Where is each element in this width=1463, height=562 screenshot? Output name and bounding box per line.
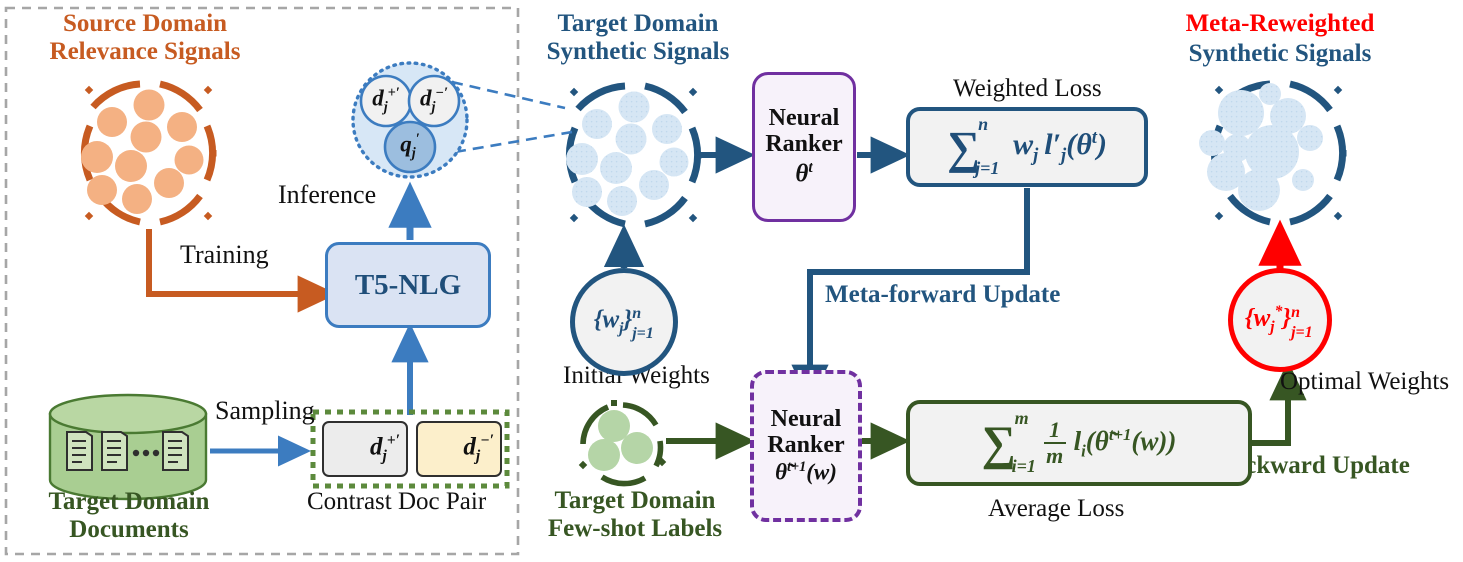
theta-tilde-arg: (w) xyxy=(806,459,837,484)
meta-reweighted-cluster xyxy=(1199,83,1347,222)
synthetic-doc-pos-label: dj+′ xyxy=(362,85,410,116)
meta-reweighted-title-line1: Meta-Reweighted xyxy=(1160,10,1400,38)
t5-nlg-label: T5-NLG xyxy=(355,269,461,302)
label-optimal-weights: Optimal Weights xyxy=(1280,368,1449,396)
doc-chip-positive: dj+′ xyxy=(322,421,408,477)
theta-symbol: θ xyxy=(795,161,808,188)
neural-ranker-bottom[interactable]: Neural Ranker θ̃t+1(w) xyxy=(750,370,862,522)
document-icon xyxy=(67,432,188,470)
weighted-loss-formula: ∑ n j=1 wj l′j(θt) xyxy=(947,121,1107,174)
weighted-loss-box: ∑ n j=1 wj l′j(θt) xyxy=(906,107,1148,187)
label-sampling: Sampling xyxy=(215,396,315,426)
theta-superscript: t xyxy=(808,159,812,176)
neural-ranker-top[interactable]: Neural Ranker θt xyxy=(752,72,856,222)
database-cylinder-icon xyxy=(50,395,206,499)
zoom-callout-lines xyxy=(452,82,572,152)
neural-ranker-bottom-line1: Neural xyxy=(771,407,842,433)
label-meta-forward-update: Meta-forward Update xyxy=(825,281,1060,309)
target-synthetic-cluster xyxy=(566,86,702,224)
neural-ranker-top-line2: Ranker xyxy=(765,132,842,158)
label-training: Training xyxy=(180,240,269,270)
label-average-loss: Average Loss xyxy=(988,495,1124,523)
t5-nlg-box[interactable]: T5-NLG xyxy=(325,242,491,328)
neural-ranker-bottom-line2: Ranker xyxy=(767,433,844,459)
doc-chip-positive-label: dj+′ xyxy=(370,432,400,465)
neural-ranker-top-line1: Neural xyxy=(769,106,840,132)
few-shot-labels-title: Target Domain Few-shot Labels xyxy=(530,487,740,543)
synthetic-query-label: qj′ xyxy=(386,131,434,162)
diagram-canvas: Source Domain Relevance Signals Target D… xyxy=(0,0,1463,562)
target-synthetic-title: Target Domain Synthetic Signals xyxy=(512,10,764,66)
source-domain-title: Source Domain Relevance Signals xyxy=(14,10,276,66)
neural-ranker-top-param: θt xyxy=(795,160,812,187)
label-weighted-loss: Weighted Loss xyxy=(953,75,1102,103)
neural-ranker-bottom-param: θ̃t+1(w) xyxy=(775,460,837,485)
theta-tilde-superscript: t+1 xyxy=(787,459,806,475)
label-inference: Inference xyxy=(278,180,376,210)
average-loss-box: ∑ m i=1 1 m li(θ̃t+1(w)) xyxy=(906,400,1252,486)
theta-tilde-symbol: θ̃ xyxy=(775,459,787,484)
initial-weights-badge: {wj} n j=1 xyxy=(570,268,678,376)
few-shot-cluster xyxy=(579,400,666,484)
meta-reweighted-title-line2: Synthetic Signals xyxy=(1160,40,1400,68)
optimal-weights-formula: {wj*} n j=1 xyxy=(1245,303,1315,336)
average-loss-formula: ∑ m i=1 1 m li(θ̃t+1(w)) xyxy=(982,416,1177,471)
initial-weights-formula: {wj} n j=1 xyxy=(594,306,654,338)
optimal-weights-badge: {wj*} n j=1 xyxy=(1228,268,1332,372)
target-documents-title: Target Domain Documents xyxy=(14,488,244,544)
doc-chip-negative-label: dj−′ xyxy=(463,432,494,465)
doc-chip-negative: dj−′ xyxy=(416,421,502,477)
label-contrast-doc-pair: Contrast Doc Pair xyxy=(307,488,486,516)
synthetic-doc-neg-label: dj−′ xyxy=(410,85,458,116)
